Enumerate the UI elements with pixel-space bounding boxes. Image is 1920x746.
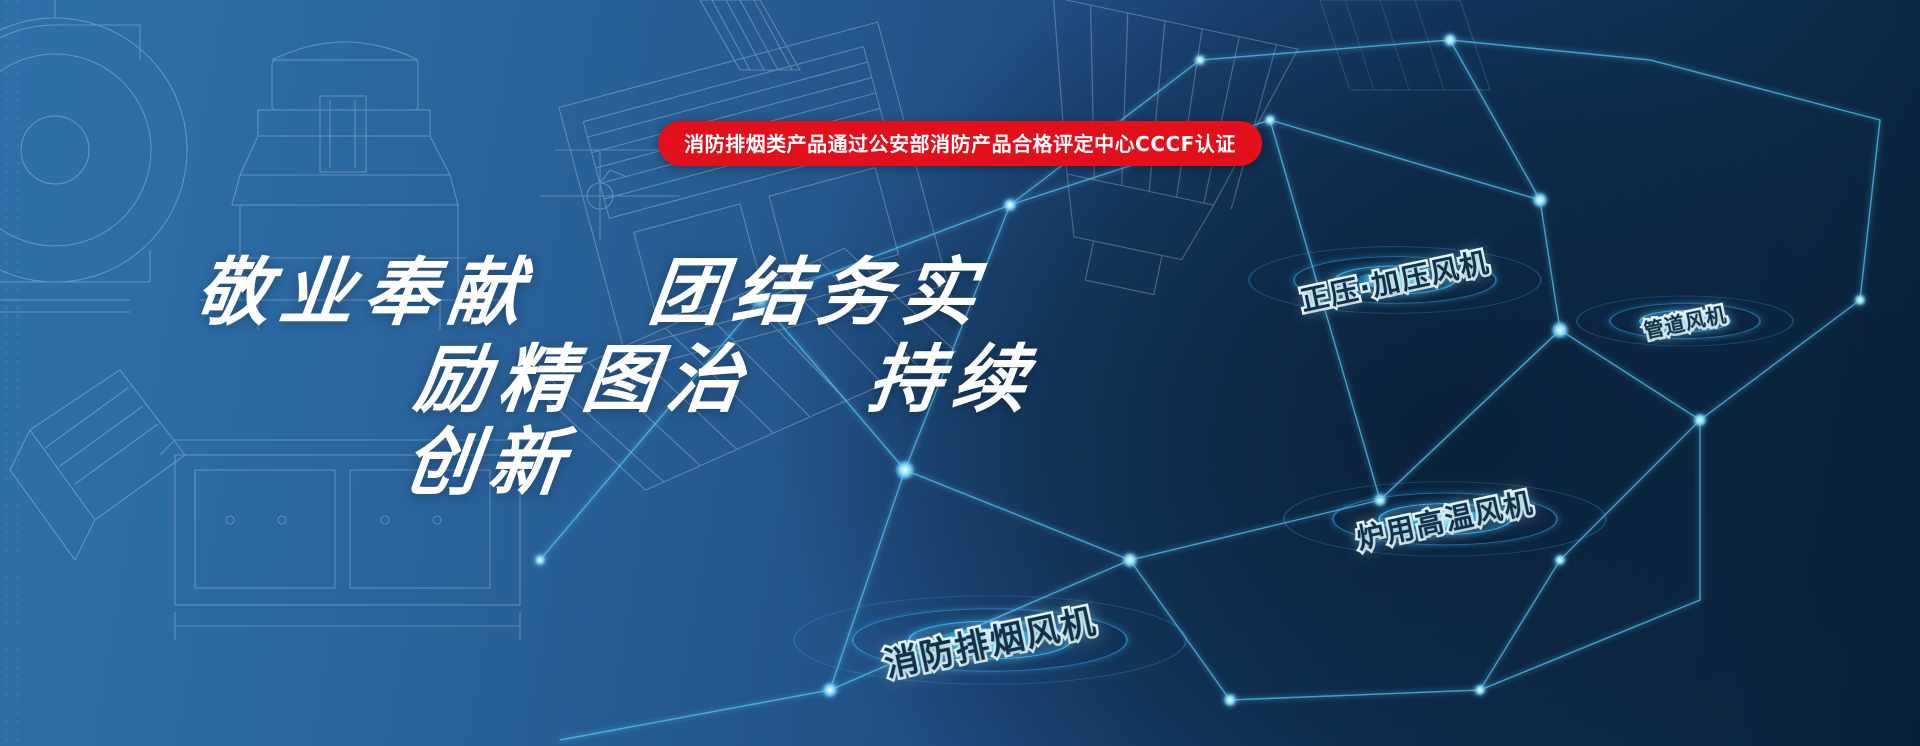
product-node-duct-fan[interactable]: 管道风机: [1570, 262, 1800, 380]
product-node-pressurization-fan[interactable]: 正压·加压风机: [1245, 205, 1545, 355]
certification-banner: 消防排烟类产品通过公安部消防产品合格评定中心CCCF认证: [658, 121, 1262, 166]
product-node-smoke-exhaust-fan[interactable]: 消防排烟风机: [790, 540, 1190, 740]
product-node-high-temperature-furnace-fan[interactable]: 炉用高温风机: [1280, 435, 1610, 603]
hero-banner: 消防排烟类产品通过公安部消防产品合格评定中心CCCF认证 敬业奉献 团结务实 励…: [0, 0, 1920, 746]
